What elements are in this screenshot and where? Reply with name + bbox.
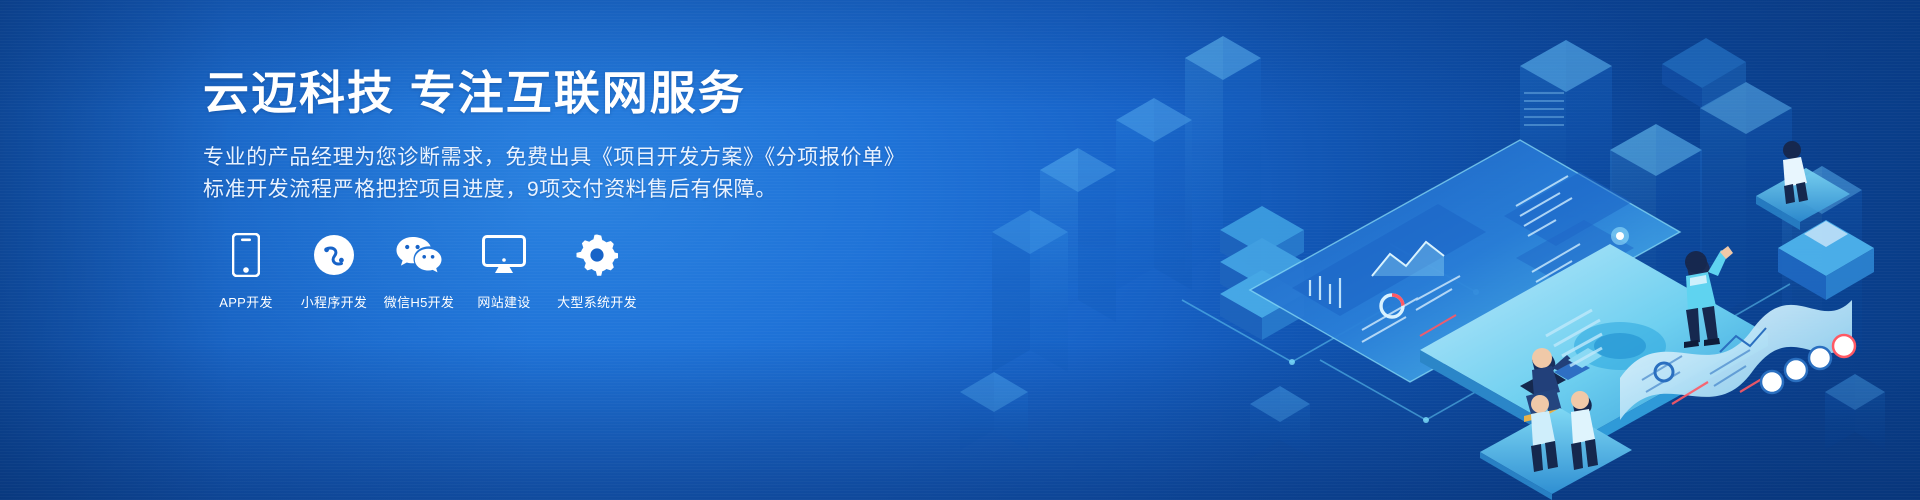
service-label-wechat-h5: 微信H5开发: [384, 292, 454, 311]
mobile-phone-icon: [232, 232, 260, 278]
page-title: 云迈科技 专注互联网服务: [203, 66, 903, 120]
service-item-mini-program[interactable]: 小程序开发: [291, 232, 377, 311]
service-list: APP开发 小程序开发: [203, 232, 647, 311]
subtitle-line-2: 标准开发流程严格把控项目进度，9项交付资料售后有保障。: [203, 174, 903, 206]
mini-program-icon: [313, 232, 355, 278]
subtitle-line-1: 专业的产品经理为您诊断需求，免费出具《项目开发方案》《分项报价单》: [203, 142, 903, 174]
gear-icon: [576, 232, 618, 278]
monitor-icon: [482, 232, 526, 278]
service-label-website: 网站建设: [477, 292, 530, 311]
service-label-large-system: 大型系统开发: [557, 292, 637, 311]
wechat-icon: [396, 232, 442, 278]
hero-subtitle: 专业的产品经理为您诊断需求，免费出具《项目开发方案》《分项报价单》 标准开发流程…: [203, 142, 903, 206]
service-label-app: APP开发: [219, 292, 273, 311]
hero-copy: 云迈科技 专注互联网服务 专业的产品经理为您诊断需求，免费出具《项目开发方案》《…: [203, 66, 903, 206]
service-label-mini-program: 小程序开发: [301, 292, 368, 311]
service-item-app[interactable]: APP开发: [203, 232, 289, 311]
hero-banner: 云迈科技 专注互联网服务 专业的产品经理为您诊断需求，免费出具《项目开发方案》《…: [0, 0, 1920, 500]
service-item-large-system[interactable]: 大型系统开发: [549, 232, 645, 311]
service-item-wechat-h5[interactable]: 微信H5开发: [379, 232, 459, 311]
isometric-illustration: [920, 0, 1920, 500]
service-item-website[interactable]: 网站建设: [461, 232, 547, 311]
